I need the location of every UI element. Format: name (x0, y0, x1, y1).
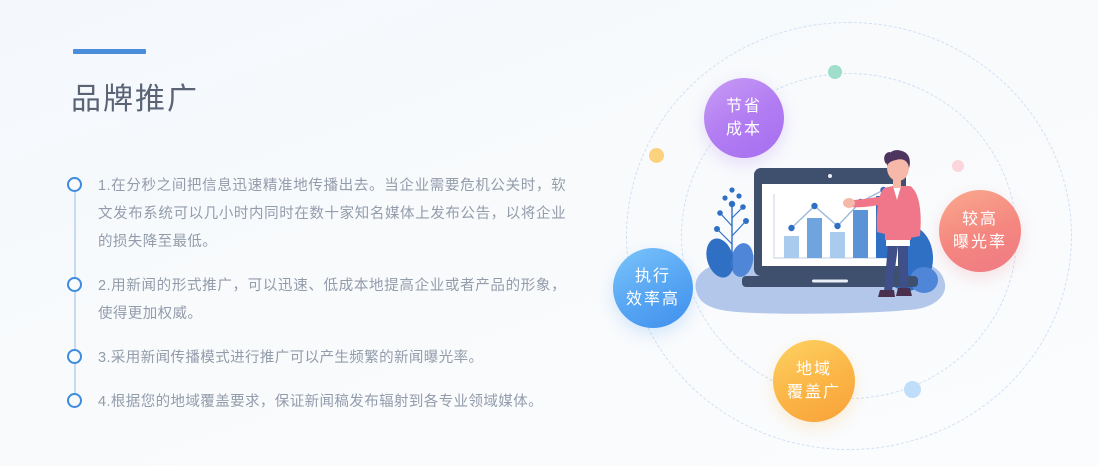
title-accent-bar (73, 49, 146, 54)
list-item: 4.根据您的地域覆盖要求，保证新闻稿发布辐射到各专业领域媒体。 (66, 388, 566, 416)
badge-label-line2: 效率高 (626, 288, 680, 311)
list-bullet-icon (67, 277, 82, 292)
list-item-text: 3.采用新闻传播模式进行推广可以产生频繁的新闻曝光率。 (98, 344, 566, 372)
badge-wide-coverage[interactable]: 地域 覆盖广 (773, 340, 855, 422)
list-bullet-icon (67, 177, 82, 192)
list-item-text: 1.在分秒之间把信息迅速精准地传播出去。当企业需要危机公关时，软文发布系统可以几… (98, 172, 566, 256)
badge-label-line1: 执行 (635, 265, 671, 288)
badge-high-efficiency[interactable]: 执行 效率高 (613, 248, 693, 328)
badge-label-line1: 地域 (796, 358, 832, 381)
decorative-dot-amber (649, 148, 664, 163)
badge-label-line1: 节省 (726, 95, 762, 118)
page-title: 品牌推广 (71, 74, 199, 118)
content-panel: 品牌推广 1.在分秒之间把信息迅速精准地传播出去。当企业需要危机公关时，软文发布… (0, 0, 600, 466)
plant-leaves-icon (702, 187, 756, 280)
list-item: 2.用新闻的形式推广，可以迅速、低成本地提高企业或者产品的形象，使得更加权威。 (66, 272, 566, 328)
illustration-panel: 节省 成本 较高 曝光率 执行 效率高 地域 覆盖广 (560, 0, 1098, 466)
list-bullet-icon (67, 349, 82, 364)
badge-label-line2: 成本 (726, 118, 762, 141)
decorative-dot-skyblue (904, 381, 921, 398)
list-item: 1.在分秒之间把信息迅速精准地传播出去。当企业需要危机公关时，软文发布系统可以几… (66, 172, 566, 256)
laptop-analytics-illustration (688, 140, 968, 330)
decorative-dot-mint (828, 65, 842, 79)
list-item: 3.采用新闻传播模式进行推广可以产生频繁的新闻曝光率。 (66, 344, 566, 372)
brand-promotion-page: 品牌推广 1.在分秒之间把信息迅速精准地传播出去。当企业需要危机公关时，软文发布… (0, 0, 1098, 466)
feature-list: 1.在分秒之间把信息迅速精准地传播出去。当企业需要危机公关时，软文发布系统可以几… (66, 172, 566, 416)
list-item-text: 2.用新闻的形式推广，可以迅速、低成本地提高企业或者产品的形象，使得更加权威。 (98, 272, 566, 328)
badge-label-line2: 覆盖广 (787, 381, 841, 404)
list-item-text: 4.根据您的地域覆盖要求，保证新闻稿发布辐射到各专业领域媒体。 (98, 388, 566, 416)
list-bullet-icon (67, 393, 82, 408)
